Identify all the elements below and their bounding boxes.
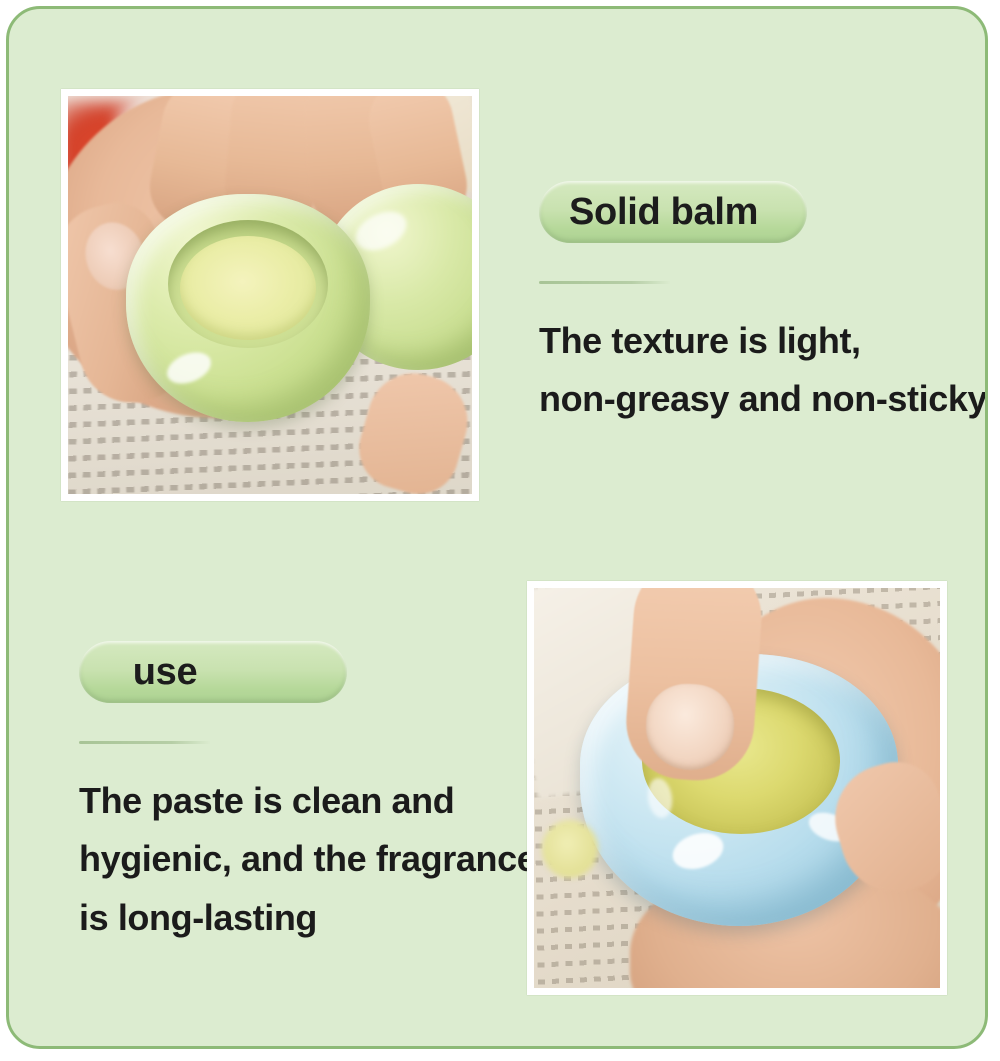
green-jar-scene — [68, 96, 472, 494]
green-jar-balm — [180, 236, 316, 340]
product-photo-green-jar — [61, 89, 479, 501]
use-line-1: The paste is clean and — [79, 772, 549, 830]
solid-balm-line-1: The texture is light, — [539, 312, 988, 370]
section-use: use The paste is clean and hygienic, and… — [79, 641, 549, 947]
use-line-2: hygienic, and the fragrance — [79, 830, 549, 888]
badge-use: use — [79, 641, 347, 703]
divider-use — [79, 741, 211, 744]
photo-blue-jar-inner — [534, 588, 940, 988]
balm-smear — [542, 820, 598, 878]
solid-balm-description: The texture is light, non-greasy and non… — [539, 312, 988, 429]
photo-green-jar-inner — [68, 96, 472, 494]
badge-solid-balm: Solid balm — [539, 181, 807, 243]
green-ceramic-jar — [126, 194, 370, 422]
product-photo-blue-jar — [527, 581, 947, 995]
use-description: The paste is clean and hygienic, and the… — [79, 772, 549, 947]
use-line-3: is long-lasting — [79, 889, 549, 947]
infographic-card: Solid balm The texture is light, non-gre… — [6, 6, 988, 1049]
blue-jar-highlight-1 — [668, 827, 728, 875]
solid-balm-line-2: non-greasy and non-sticky — [539, 370, 988, 428]
section-solid-balm: Solid balm The texture is light, non-gre… — [539, 181, 988, 429]
divider-solid-balm — [539, 281, 671, 284]
green-jar-highlight — [162, 346, 215, 389]
blue-jar-scene — [534, 588, 940, 988]
green-jar-mouth — [168, 220, 328, 348]
